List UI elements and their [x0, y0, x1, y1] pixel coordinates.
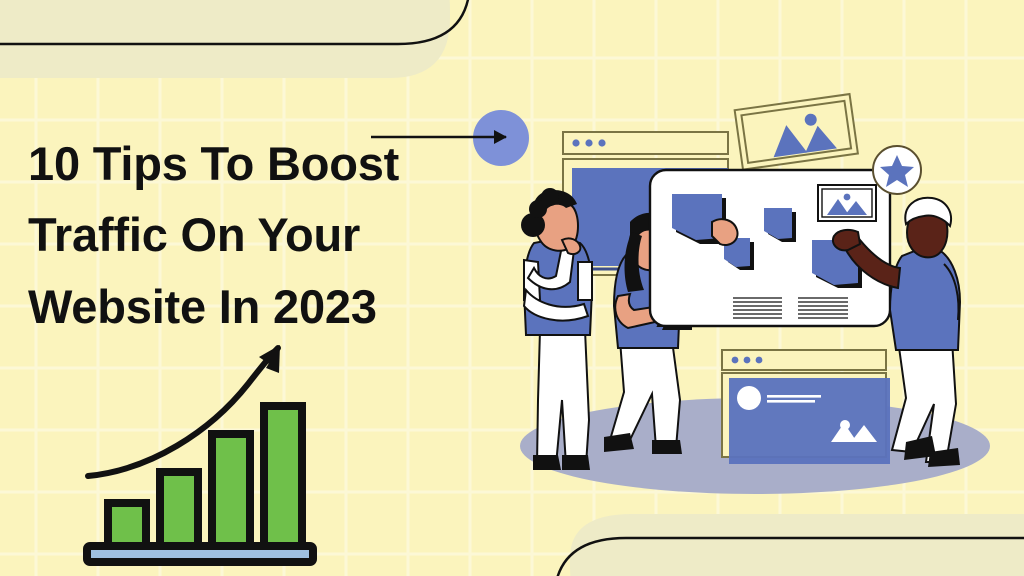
- window-dot: [744, 357, 751, 364]
- star-badge: [873, 146, 921, 194]
- whiteboard-framed-image: [818, 185, 876, 221]
- window-dot: [598, 139, 605, 146]
- reaching-hand: [712, 219, 738, 245]
- window-dot: [572, 139, 579, 146]
- card-text-line: [767, 395, 821, 398]
- poster-canvas: 10 Tips To Boost Traffic On Your Website…: [0, 0, 1024, 576]
- front-browser-window: [722, 350, 890, 464]
- window-dot: [585, 139, 592, 146]
- page-title: 10 Tips To Boost Traffic On Your Website…: [28, 128, 458, 342]
- tilted-picture-frame: [735, 94, 858, 170]
- window-dot: [756, 357, 763, 364]
- headline-text: 10 Tips To Boost Traffic On Your Website…: [28, 128, 458, 342]
- avatar: [737, 386, 761, 410]
- card-text-line: [767, 400, 815, 403]
- window-dot: [732, 357, 739, 364]
